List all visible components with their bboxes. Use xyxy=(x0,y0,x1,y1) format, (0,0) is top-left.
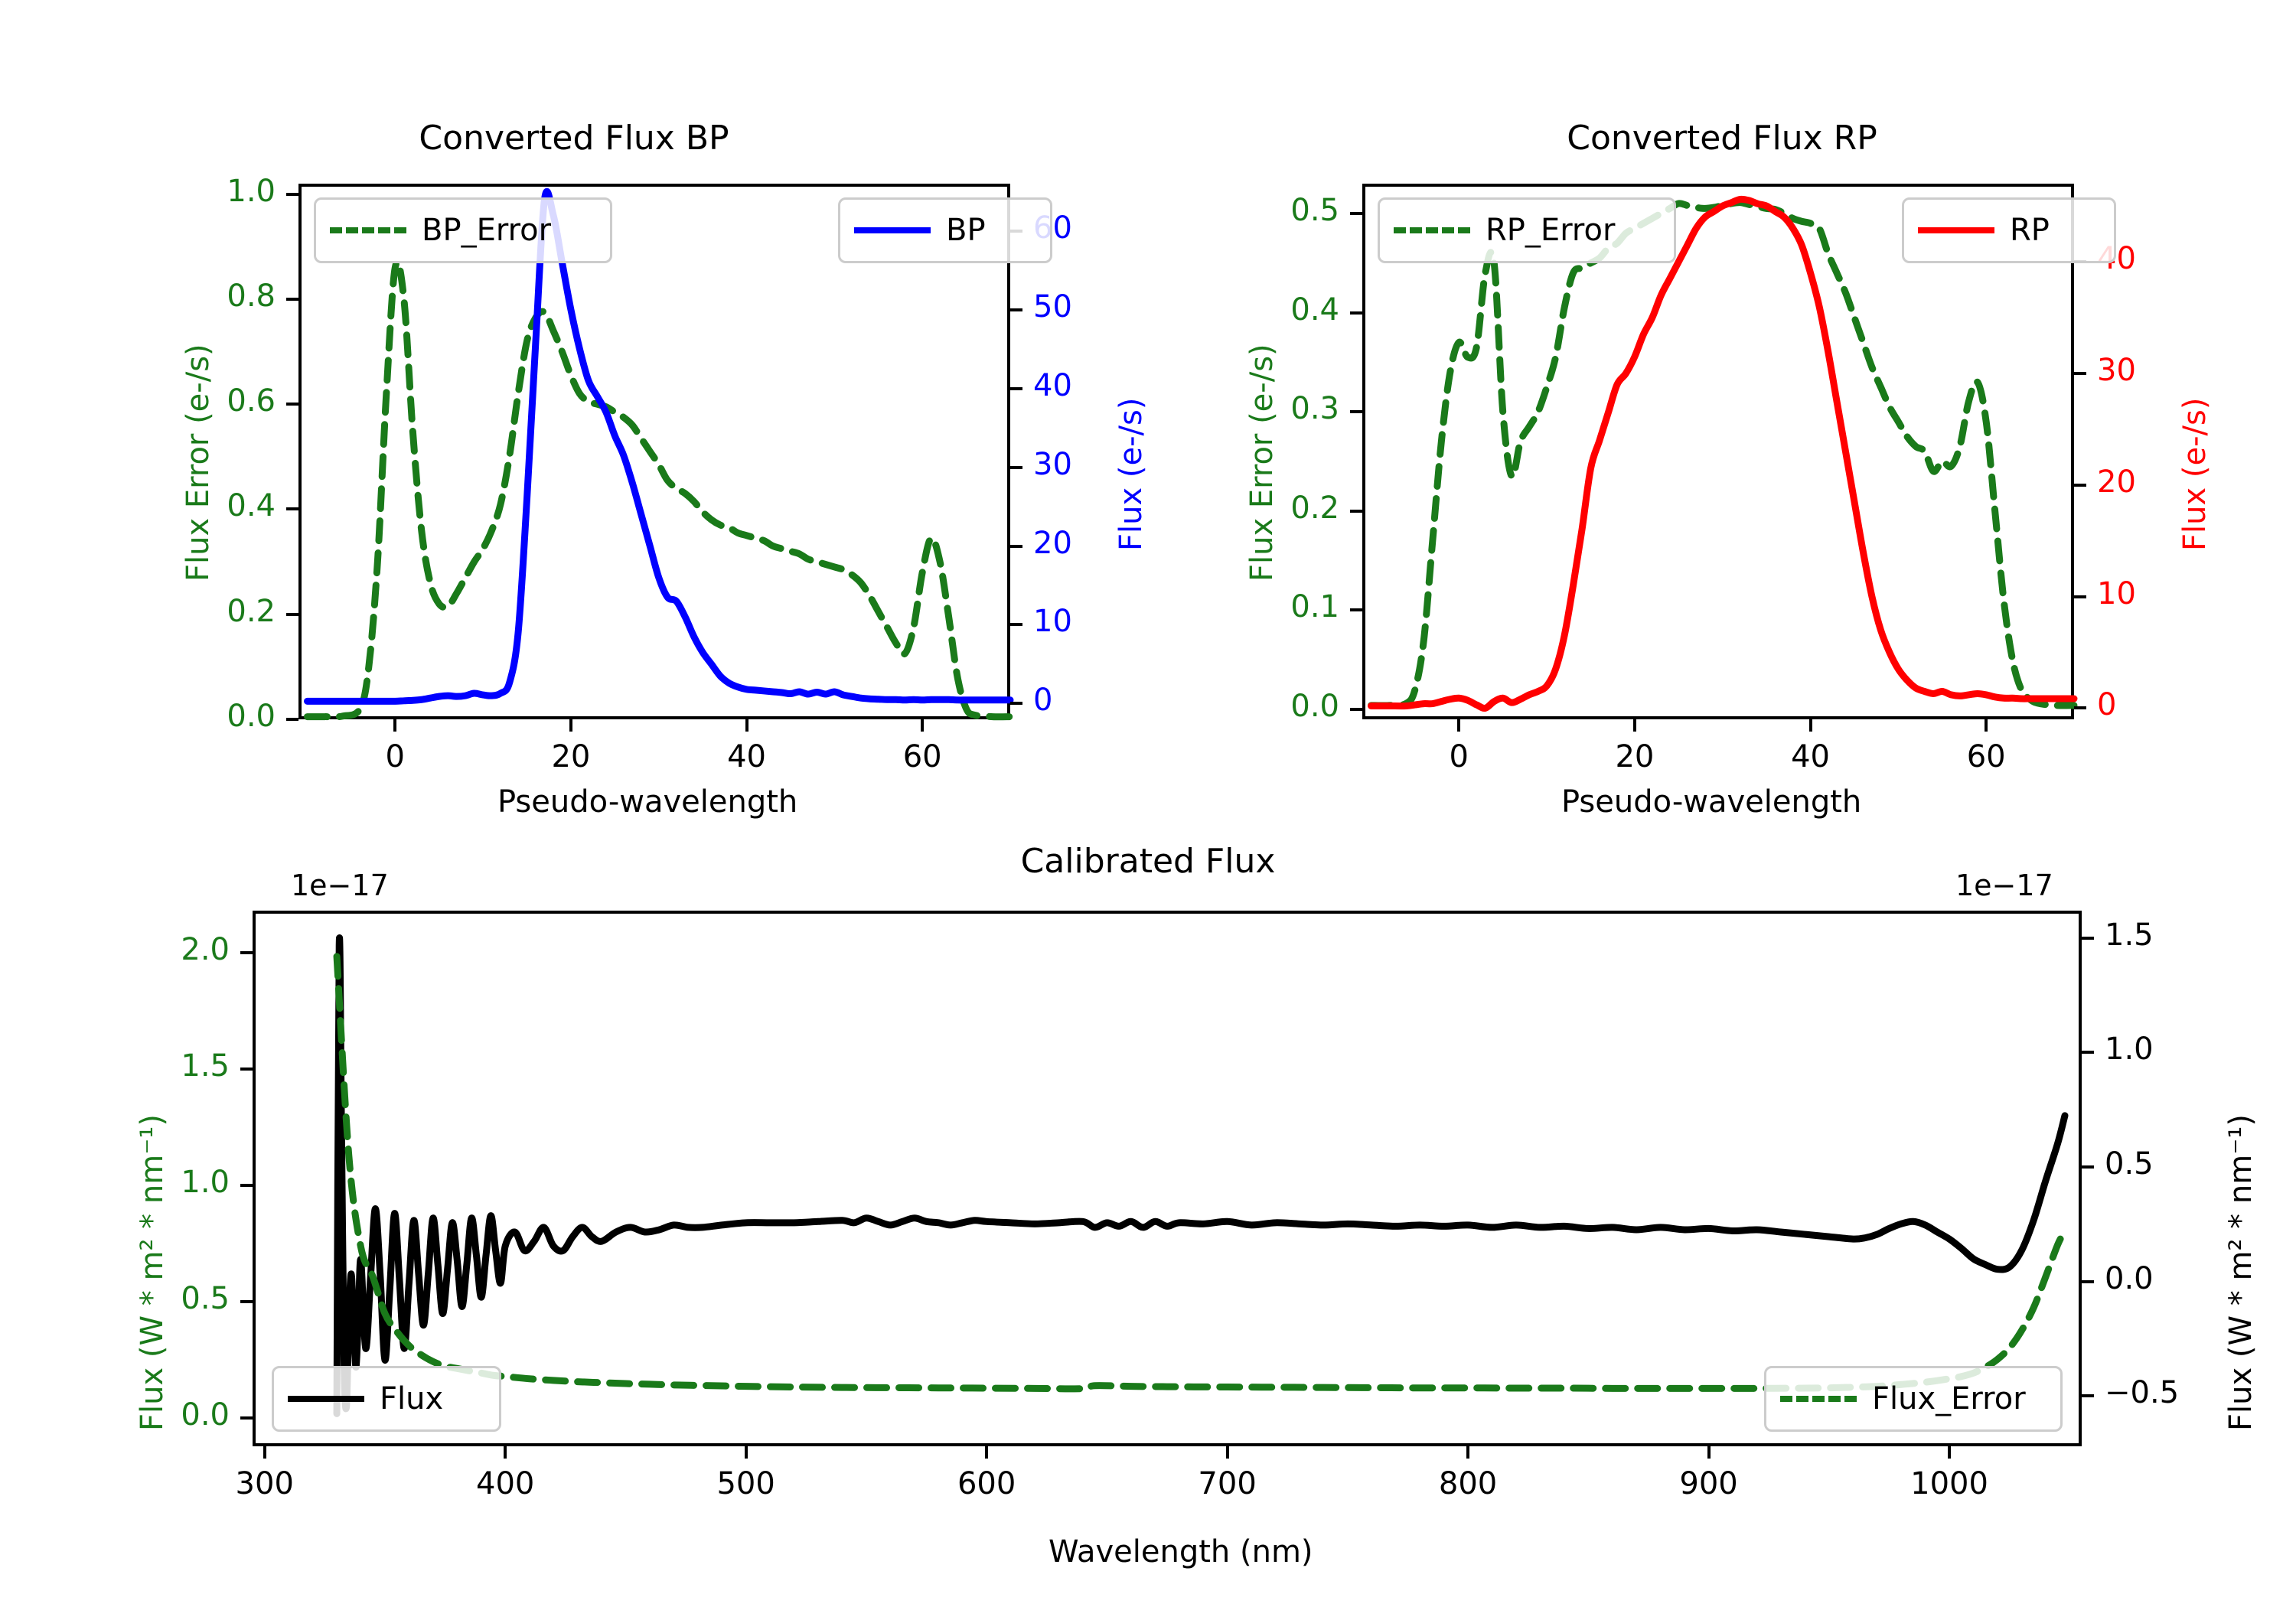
axis-tick-label: 0.5 xyxy=(181,1281,230,1316)
panel-converted-flux-rp: Converted Flux RP Flux Error (e-/s) Flux… xyxy=(1148,0,2296,826)
axis-tick-label: 0 xyxy=(1033,683,1052,718)
axis-tick-label: 0.2 xyxy=(1290,491,1339,526)
axis-tick-label: −0.5 xyxy=(2105,1375,2179,1410)
axis-tick-mark xyxy=(1010,623,1022,626)
axis-tick-label: 10 xyxy=(2097,576,2136,611)
axis-tick-label: 500 xyxy=(716,1466,775,1501)
rp-legend-error[interactable]: RP_Error xyxy=(1378,197,1676,263)
axis-tick-mark xyxy=(2074,484,2086,487)
rp-legend-flux[interactable]: RP xyxy=(1902,197,2116,263)
axis-tick-mark xyxy=(2074,595,2086,598)
series-flux_error xyxy=(337,957,2065,1389)
axis-tick-mark xyxy=(1226,1446,1229,1459)
axis-tick-mark xyxy=(1010,545,1022,548)
axis-tick-label: 0.3 xyxy=(1290,391,1339,426)
axis-tick-label: 40 xyxy=(727,739,766,774)
axis-tick-mark xyxy=(921,719,924,732)
bp-legend-flux[interactable]: BP xyxy=(838,197,1052,263)
axis-tick-label: 30 xyxy=(1033,447,1072,482)
axis-tick-label: 700 xyxy=(1198,1466,1256,1501)
panel-calibrated-flux: Calibrated Flux 1e−17 1e−17 Flux (W * m²… xyxy=(0,826,2296,1607)
axis-tick-label: 0 xyxy=(2097,687,2116,722)
axis-tick-mark xyxy=(286,613,298,616)
cal-flux-legend-label: Flux xyxy=(380,1381,443,1416)
axis-tick-label: 1000 xyxy=(1910,1466,1988,1501)
axis-tick-mark xyxy=(286,507,298,510)
axis-tick-mark xyxy=(2074,372,2086,375)
axis-tick-label: 300 xyxy=(236,1466,294,1501)
axis-tick-mark xyxy=(2082,937,2094,940)
axis-tick-mark xyxy=(286,298,298,301)
axis-tick-mark xyxy=(2082,1394,2094,1397)
bp-curves xyxy=(0,0,1148,826)
axis-tick-mark xyxy=(1707,1446,1711,1459)
axis-tick-label: 0.0 xyxy=(181,1397,230,1433)
axis-tick-mark xyxy=(240,1300,253,1303)
axis-tick-mark xyxy=(1985,719,1988,732)
axis-tick-label: 0.5 xyxy=(1290,193,1339,228)
axis-tick-mark xyxy=(1350,410,1362,413)
cal-flux-error-legend-swatch xyxy=(1780,1396,1857,1402)
axis-tick-label: 0.2 xyxy=(227,594,276,629)
axis-tick-mark xyxy=(1633,719,1636,732)
axis-tick-mark xyxy=(985,1446,988,1459)
axis-tick-mark xyxy=(745,719,748,732)
axis-tick-mark xyxy=(1457,719,1460,732)
axis-tick-label: 800 xyxy=(1439,1466,1497,1501)
axis-tick-label: 600 xyxy=(957,1466,1016,1501)
axis-tick-mark xyxy=(1350,311,1362,315)
axis-tick-label: 0.1 xyxy=(1290,589,1339,624)
axis-tick-mark xyxy=(2074,706,2086,709)
series-rp_error xyxy=(1371,203,2074,706)
axis-tick-label: 1.5 xyxy=(2105,918,2154,953)
axis-tick-mark xyxy=(1350,212,1362,215)
axis-tick-label: 0.4 xyxy=(1290,292,1339,328)
bp-legend-error[interactable]: BP_Error xyxy=(314,197,612,263)
axis-tick-mark xyxy=(240,951,253,954)
axis-tick-label: 40 xyxy=(1791,739,1830,774)
axis-tick-label: 1.0 xyxy=(2105,1032,2154,1067)
bp-legend-label: BP xyxy=(946,213,986,248)
axis-tick-label: 0.8 xyxy=(227,279,276,314)
axis-tick-label: 900 xyxy=(1679,1466,1737,1501)
axis-tick-label: 1.0 xyxy=(227,174,276,209)
axis-tick-mark xyxy=(569,719,572,732)
axis-tick-label: 0.0 xyxy=(1290,689,1339,724)
axis-tick-mark xyxy=(504,1446,507,1459)
axis-tick-mark xyxy=(240,1068,253,1071)
axis-tick-mark xyxy=(1010,387,1022,390)
bp-error-legend-swatch xyxy=(330,227,406,233)
bp-error-legend-label: BP_Error xyxy=(422,213,551,248)
axis-tick-mark xyxy=(1466,1446,1469,1459)
axis-tick-label: 40 xyxy=(1033,368,1072,403)
cal-flux-error-legend-label: Flux_Error xyxy=(1872,1381,2026,1416)
axis-tick-label: 400 xyxy=(476,1466,534,1501)
axis-tick-label: 0.6 xyxy=(227,383,276,419)
axis-tick-mark xyxy=(286,718,298,721)
axis-tick-label: 0.0 xyxy=(227,699,276,734)
axis-tick-mark xyxy=(745,1446,748,1459)
axis-tick-label: 60 xyxy=(903,739,942,774)
axis-tick-mark xyxy=(1010,702,1022,705)
axis-tick-mark xyxy=(240,1184,253,1187)
panel-converted-flux-bp: Converted Flux BP Flux Error (e-/s) Flux… xyxy=(0,0,1148,826)
axis-tick-label: 1.5 xyxy=(181,1048,230,1084)
axis-tick-label: 0 xyxy=(386,739,405,774)
axis-tick-label: 60 xyxy=(1967,739,2006,774)
bp-legend-swatch xyxy=(854,227,931,233)
axis-tick-label: 0.0 xyxy=(2105,1261,2154,1296)
axis-tick-label: 30 xyxy=(2097,353,2136,388)
axis-tick-mark xyxy=(286,193,298,196)
cal-legend-flux-error[interactable]: Flux_Error xyxy=(1764,1366,2063,1432)
axis-tick-label: 20 xyxy=(551,739,590,774)
axis-tick-mark xyxy=(240,1416,253,1420)
rp-error-legend-swatch xyxy=(1394,227,1470,233)
axis-tick-mark xyxy=(1809,719,1812,732)
axis-tick-label: 0.4 xyxy=(227,488,276,523)
axis-tick-label: 10 xyxy=(1033,604,1072,639)
axis-tick-mark xyxy=(393,719,396,732)
axis-tick-label: 50 xyxy=(1033,289,1072,324)
series-flux xyxy=(337,938,2065,1414)
series-rp xyxy=(1371,199,2074,708)
rp-legend-label: RP xyxy=(2010,213,2050,248)
rp-legend-swatch xyxy=(1918,227,1994,233)
axis-tick-mark xyxy=(1010,308,1022,311)
axis-tick-mark xyxy=(2082,1165,2094,1169)
axis-tick-label: 20 xyxy=(1033,526,1072,561)
axis-tick-mark xyxy=(263,1446,266,1459)
axis-tick-mark xyxy=(1010,466,1022,469)
axis-tick-label: 20 xyxy=(1615,739,1654,774)
axis-tick-label: 0 xyxy=(1450,739,1469,774)
axis-tick-mark xyxy=(1350,608,1362,611)
axis-tick-label: 2.0 xyxy=(181,932,230,967)
figure-canvas: Converted Flux BP Flux Error (e-/s) Flux… xyxy=(0,0,2296,1607)
axis-tick-mark xyxy=(1350,708,1362,711)
axis-tick-label: 20 xyxy=(2097,464,2136,500)
axis-tick-label: 1.0 xyxy=(181,1165,230,1200)
series-bp_error xyxy=(307,262,1010,717)
rp-error-legend-label: RP_Error xyxy=(1486,213,1615,248)
axis-tick-mark xyxy=(286,403,298,406)
axis-tick-label: 0.5 xyxy=(2105,1146,2154,1182)
axis-tick-mark xyxy=(2082,1280,2094,1283)
axis-tick-mark xyxy=(2082,1051,2094,1054)
axis-tick-mark xyxy=(1948,1446,1951,1459)
cal-flux-legend-swatch xyxy=(288,1396,364,1402)
cal-legend-flux[interactable]: Flux xyxy=(272,1366,501,1432)
axis-tick-mark xyxy=(1350,510,1362,513)
